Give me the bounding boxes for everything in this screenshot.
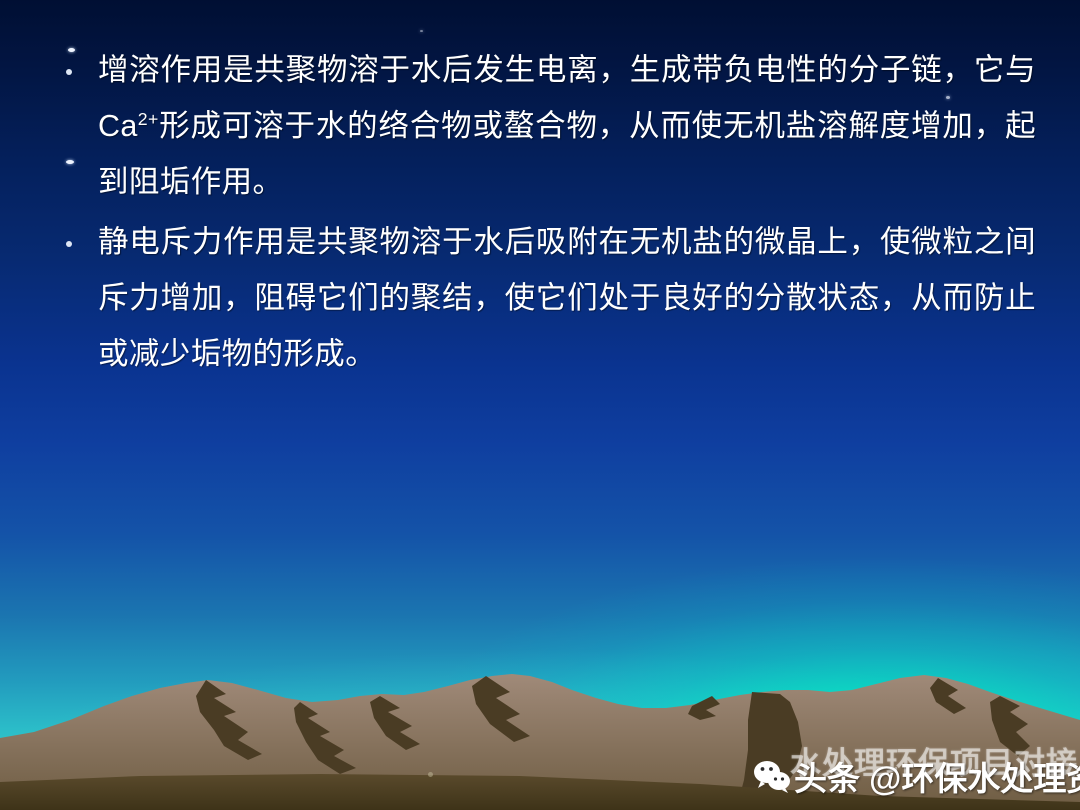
bullet-marker-icon [56,214,98,253]
bullet-text-1: 增溶作用是共聚物溶于水后发生电离，生成带负电性的分子链，它与Ca2+形成可溶于水… [98,42,1036,210]
bullet-1-segment-b: 形成可溶于水的络合物或螯合物，从而使无机盐溶解度增加，起到阻垢作用。 [98,109,1036,199]
bullet-item-2: 静电斥力作用是共聚物溶于水后吸附在无机盐的微晶上，使微粒之间斥力增加，阻碍它们的… [56,214,1036,382]
bullet-text-2: 静电斥力作用是共聚物溶于水后吸附在无机盐的微晶上，使微粒之间斥力增加，阻碍它们的… [98,214,1036,382]
bullet-marker-icon [56,42,98,81]
slide-body-content: 增溶作用是共聚物溶于水后发生电离，生成带负电性的分子链，它与Ca2+形成可溶于水… [56,42,1036,386]
channel-watermark: 头条 @环保水处理资讯 [752,752,1080,800]
channel-watermark-label: 头条 @环保水处理资讯 [794,752,1080,800]
bullet-item-1: 增溶作用是共聚物溶于水后发生电离，生成带负电性的分子链，它与Ca2+形成可溶于水… [56,42,1036,210]
presentation-slide: 增溶作用是共聚物溶于水后发生电离，生成带负电性的分子链，它与Ca2+形成可溶于水… [0,0,1080,810]
star-decoration [420,30,423,32]
bullet-1-superscript: 2+ [138,109,159,129]
wechat-icon [752,759,792,793]
ground-period-dot [428,772,433,777]
